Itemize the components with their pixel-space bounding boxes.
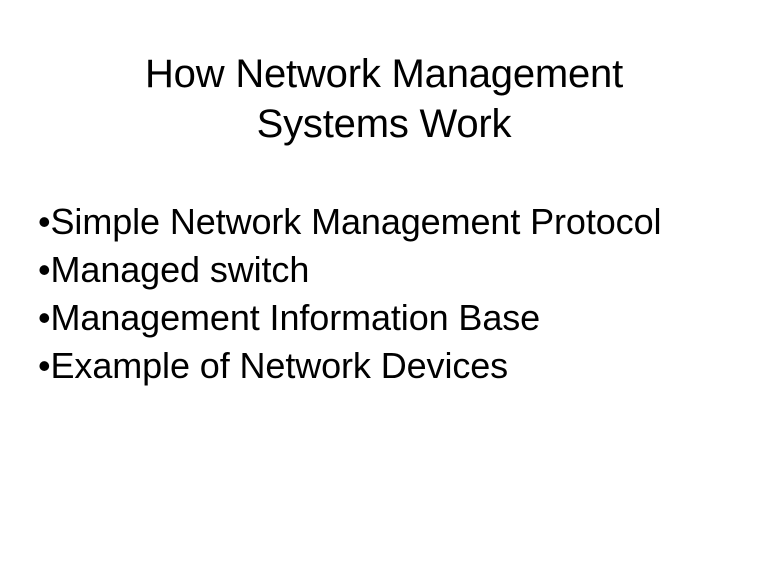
- presentation-slide: How Network Management Systems Work • Si…: [0, 0, 768, 576]
- bullet-point-icon: •: [38, 198, 51, 246]
- list-item: • Example of Network Devices: [38, 342, 738, 390]
- list-item: • Management Information Base: [38, 294, 738, 342]
- list-item-label: Management Information Base: [51, 294, 541, 342]
- list-item-label: Simple Network Management Protocol: [51, 198, 662, 246]
- list-item-label: Managed switch: [51, 246, 310, 294]
- bullet-point-icon: •: [38, 342, 51, 390]
- list-item: • Simple Network Management Protocol: [38, 198, 738, 246]
- bullet-point-icon: •: [38, 294, 51, 342]
- list-item-label: Example of Network Devices: [51, 342, 509, 390]
- bullet-point-icon: •: [38, 246, 51, 294]
- list-item: • Managed switch: [38, 246, 738, 294]
- slide-bullet-list: • Simple Network Management Protocol • M…: [38, 198, 738, 390]
- slide-title: How Network Management Systems Work: [64, 49, 704, 149]
